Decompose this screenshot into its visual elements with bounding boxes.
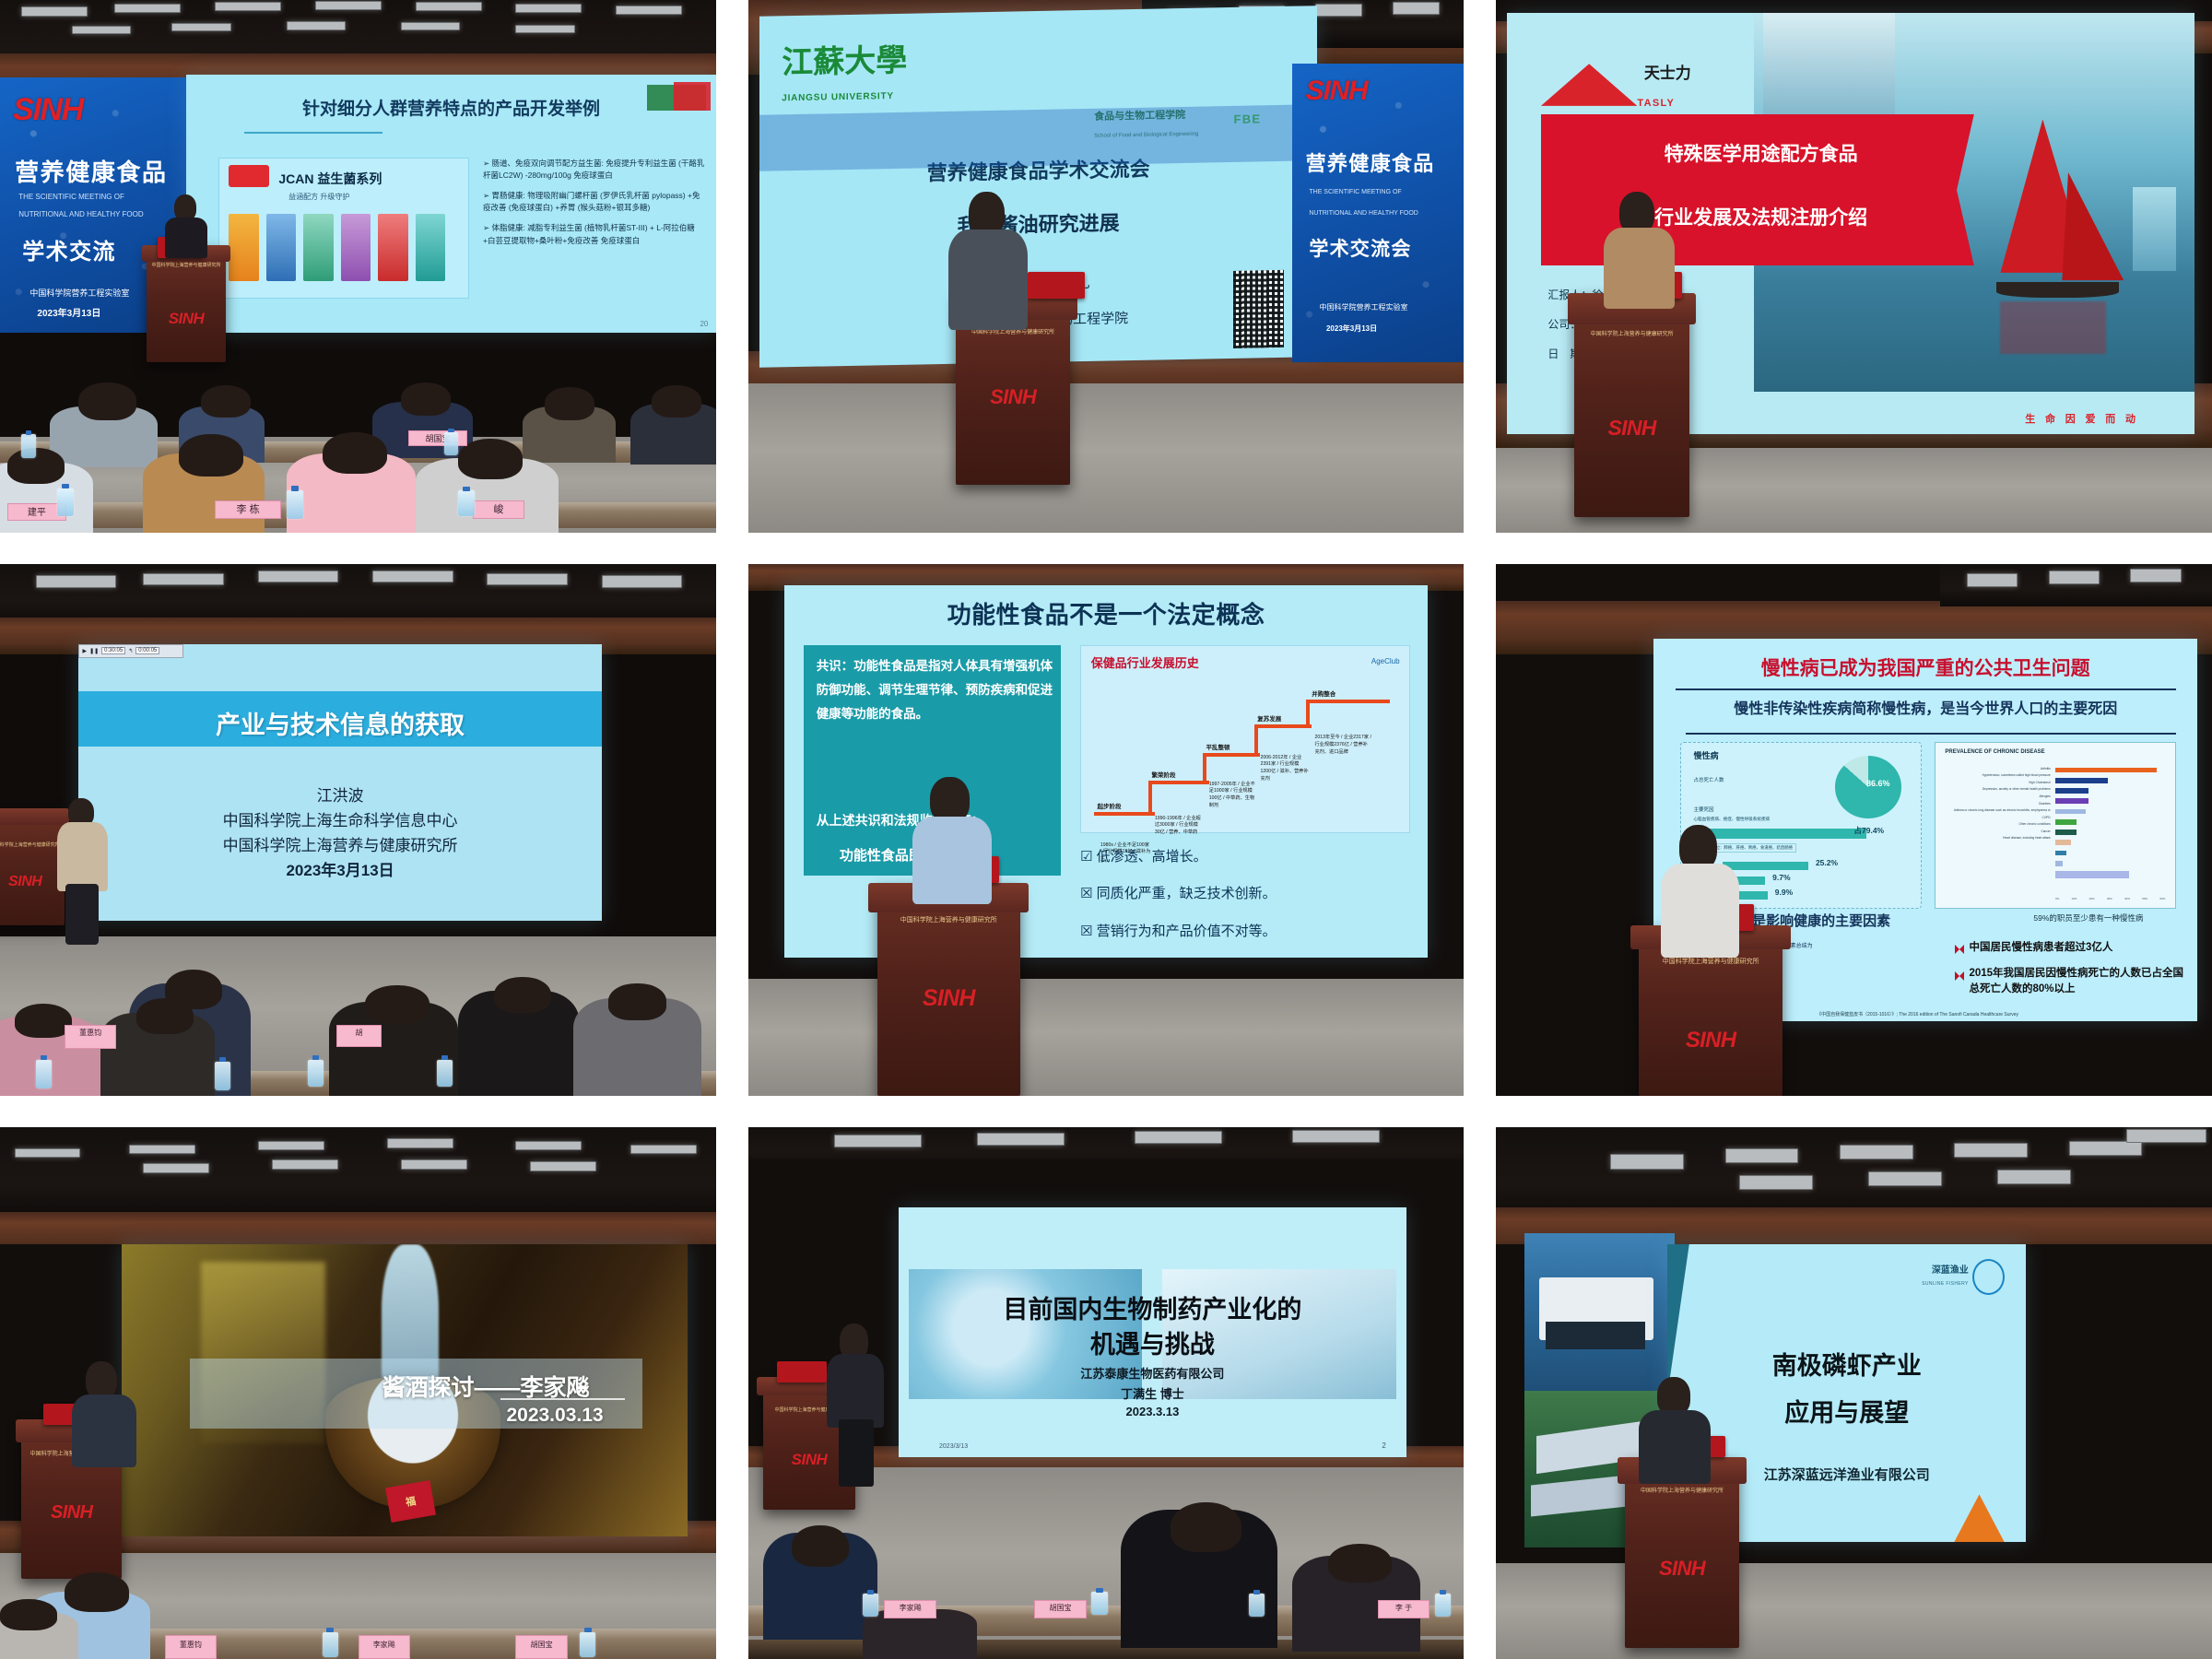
slide-date: 2023.03.13 [506,1405,603,1427]
slide-bullets: ➢ 肠道、免疫双向调节配方益生菌: 免疫提升专利益生菌 (干酪乳杆菌LC2W) … [483,158,705,248]
check-text: 低渗透、高增长。 [1097,849,1207,865]
placard: 胡国宝 [408,430,467,446]
speaker [1639,1377,1711,1483]
sinh-logo: SINH [1306,76,1368,107]
cat-8: Cancer [1945,829,2050,836]
cat-6: Asthma or chronic lung disease such as c… [1945,807,2050,821]
slide-title-line-2: 应用与展望 [1667,1393,2026,1429]
cat-5: Diabetes [1945,801,2050,808]
xtick-1: 10% [2071,897,2077,900]
check-mark: ☒ [1080,924,1092,939]
photo-cell-7[interactable]: 福 酱酒探讨——李家飚 2023.03.13 中国科学院上海营养与健康研究所 S… [0,1127,716,1659]
pie-label: 占总死亡人数 [1693,776,1724,783]
brand-logo [229,165,268,187]
slide-footer-date: 2023/3/13 [939,1443,968,1450]
chart-category-labels: Arthritis Hypertension, sometimes called… [1945,766,2050,842]
podium-sinh-logo: SINH [1639,1028,1782,1053]
cat-4: Allergies [1945,794,2050,801]
qr-code [1233,270,1283,348]
photo-cell-5[interactable]: 功能性食品不是一个法定概念 共识：功能性食品是指对人体具有增强机体防御功能、调节… [748,564,1464,1096]
grid-gutter [1464,1096,1496,1127]
xtick-6: 60% [2159,897,2165,900]
placard: 李家飚 [884,1600,935,1619]
chart-stage-4: 复苏发展 [1257,713,1281,723]
slide-title-line-2: 机遇与挑战 [899,1324,1406,1360]
banner-date: 2023年3月13日 [1326,324,1377,334]
grid-gutter [716,1096,748,1127]
company-logo-en: SUNLINE FISHERY [1922,1281,1969,1287]
slide-date: 2023.3.13 [899,1405,1406,1418]
chart-stage-2: 繁荣阶段 [1152,770,1176,779]
check-mark: ☒ [1080,886,1092,901]
card-label: 慢性病 [1693,749,1718,761]
podium-label: 中国科学院上海营养与健康研究所 [1574,329,1688,337]
slide-title-line-1: 南极磷虾产业 [1667,1346,2026,1382]
tasly-logo-mark [1541,64,1637,106]
podium-label: 中国科学院上海营养与健康研究所 [877,915,1020,924]
banner-subtitle-en-2: NUTRITIONAL AND HEALTHY FOOD [1309,210,1418,217]
xtick-5: 50% [2142,897,2147,900]
sinh-logo: SINH [13,92,83,128]
chart-x-ticks: 0% 10% 20% 30% 40% 50% 60% [2055,897,2166,900]
university-logo-cn: 江蘇大學 [782,34,907,82]
grid-gutter [1464,0,1496,533]
xtick-2: 20% [2089,897,2095,900]
podium-sinh-logo: SINH [1574,416,1688,441]
podium-sinh-logo: SINH [21,1502,122,1524]
checklist-item-3: ☒ 营销行为和产品价值不对等。 [1080,921,1277,940]
slide-title: 产业与技术信息的获取 [78,705,601,741]
speaker [1661,825,1739,958]
podium-sinh-logo: SINH [1625,1557,1739,1581]
speaker [1604,192,1676,309]
cat-1: Hypertension, sometimes called high bloo… [1945,772,2050,780]
industry-history-chart: 保健品行业发展历史 AgeClub 起步阶段 繁荣阶段 平乱整顿 复苏发展 [1080,645,1410,833]
consensus-text: 共识：功能性食品是指对人体具有增强机体防御功能、调节生理节律、预防疾病和促进健康… [817,654,1053,727]
slide-title: 功能性食品不是一个法定概念 [784,596,1428,630]
company-logo-en: TASLY [1637,98,1675,109]
slide-page-number: 2 [1382,1441,1385,1450]
chart-title: PREVALENCE OF CHRONIC DISEASE [1945,749,2044,755]
slide-line-2: 中国科学院上海生命科学信息中心 [78,807,601,830]
grid-gutter [748,533,1464,564]
placard: 峻 [473,500,524,519]
podium-sinh-logo: SINH [0,874,65,890]
ppt-reset-icon[interactable]: ↰ [128,648,133,654]
speaker [165,194,208,258]
placard: 胡国宝 [515,1635,567,1659]
check-mark: ☑ [1080,849,1092,865]
photo-cell-1[interactable]: SINH 营养健康食品 THE SCIENTIFIC MEETING OF NU… [0,0,716,533]
grid-gutter [1464,564,1496,1096]
slide-source: 《中国自我保健蓝皮书（2015-1016）》; The 2016 edition… [1817,1011,2018,1018]
photo-cell-4[interactable]: ▶ ❚❚ 0:30:05 ↰ 0:00:05 产业与技术信息的获取 江洪波 中国… [0,564,716,1096]
grid-gutter [0,533,716,564]
company-logo-cn: 天士力 [1644,60,1691,83]
grid-gutter [1496,533,2212,564]
slide-line-1: 江洪波 [78,782,601,806]
banner-subtitle-en-2: NUTRITIONAL AND HEALTHY FOOD [18,210,143,218]
check-text: 同质化严重，缺乏技术创新。 [1097,886,1277,901]
cat-9: Heart disease, including heart attack [1945,835,2050,842]
cat-3: Depression, anxiety or other mental heal… [1945,786,2050,794]
bright-dairy-logo [674,82,711,111]
cat-7: Other chronic conditions [1945,821,2050,829]
slide-title-line-1: 特殊医学用途配方食品 [1561,139,1960,167]
university-logo-en: JIANGSU UNIVERSITY [782,90,894,102]
company-slogan: 生 命 因 爱 而 动 [2025,411,2139,426]
grid-gutter [1464,533,1496,564]
placard: 李 栋 [215,500,281,519]
grid-gutter [716,1127,748,1659]
ppt-elapsed-time: 0:30:05 [101,647,125,654]
sunline-logo-mark [1972,1259,2005,1295]
bullet-1: ➢ 肠道、免疫双向调节配方益生菌: 免疫提升专利益生菌 (干酪乳杆菌LC2W) … [483,158,705,182]
banner-org: 中国科学院营养工程实验室 [1320,302,1408,312]
placard: 李家飚 [359,1635,410,1659]
podium-sinh-logo: SINH [956,385,1070,409]
product-headline: JCAN 益生菌系列 [278,170,382,188]
banner-title-cn-2: 学术交流会 [1309,234,1411,262]
placard: 董惠钧 [165,1635,217,1659]
ppt-pause-icon[interactable]: ❚❚ [89,648,99,654]
slide-bullet-1: 中国居民慢性病患者超过3亿人 [1969,939,2175,954]
row-value-3: 9.9% [1775,888,1793,897]
orange-triangle [1954,1494,2004,1542]
xtick-3: 30% [2107,897,2112,900]
xtick-0: 0% [2055,897,2059,900]
banner-title-cn: 营养健康食品 [1306,147,1435,177]
consensus-lead: 共识： [817,659,854,673]
photo-cell-3[interactable]: 特殊医学用途配方食品 行业发展及法规注册介绍 天士力 TASLY 汇报人：徐 公… [1496,0,2212,533]
product-panel: JCAN 益生菌系列 益涵配方 升级守护 [218,158,469,299]
podium: 中国科学院上海营养与健康研究所 SINH [1625,1457,1739,1649]
banner-title-cn: 营养健康食品 [15,154,167,188]
chart-note-3: 1997-2005年 / 企业不足1000家 / 行业规模100亿 / 中草药、… [1209,782,1257,810]
speaker [948,192,1027,330]
presentation-slide: 福 酱酒探讨——李家飚 2023.03.13 [122,1244,688,1536]
podium: 中国科学院上海营养与健康研究所 SINH [877,883,1020,1096]
slide-line-3: 中国科学院上海营养与健康研究所 [78,832,601,855]
placard: 胡 [336,1025,382,1047]
slide-title: 针对细分人群营养特点的产品开发举例 [186,95,716,120]
grid-gutter [716,533,748,564]
event-banner: SINH 营养健康食品 THE SCIENTIFIC MEETING OF NU… [1292,64,1464,362]
chart-bars [2055,768,2166,883]
checklist-item-1: ☑ 低渗透、高增长。 [1080,846,1207,865]
slide-company: 江苏泰康生物医药有限公司 [899,1364,1406,1382]
podium-label: 中国科学院上海营养与健康研究所 [1625,1486,1739,1494]
projection-screen: ▶ ❚❚ 0:30:05 ↰ 0:00:05 产业与技术信息的获取 江洪波 中国… [78,644,601,921]
photo-cell-8[interactable]: 目前国内生物制药产业化的 机遇与挑战 江苏泰康生物医药有限公司 丁满生 博士 2… [748,1127,1464,1659]
slide-subtitle: 慢性非传染性疾病简称慢性病，是当今世界人口的主要死因 [1653,696,2198,718]
chart-title: 保健品行业发展历史 [1091,653,1199,671]
photo-grid: SINH 营养健康食品 THE SCIENTIFIC MEETING OF NU… [0,0,2212,1659]
talk-title: 我国酱油研究进展 [759,202,1317,242]
placard: 李 于 [1378,1600,1430,1619]
chart-note-5: 2013年至今 / 企业2317家 / 行业规模2376亿 / 营养补充剂、进口… [1314,735,1371,756]
slide-presenter: 丁满生 博士 [899,1384,1406,1402]
cause-value: 占79.4% [1854,825,1885,836]
chart-stage-5: 并购整合 [1312,688,1335,698]
podium-label: 中国科学院上海营养与健康研究所 [147,262,225,268]
grid-gutter [716,564,748,1096]
slide-title-line-1: 目前国内生物制药产业化的 [899,1289,1406,1325]
company-logo-cn: 深蓝渔业 [1932,1262,1969,1276]
checklist-item-2: ☒ 同质化严重，缺乏技术创新。 [1080,883,1277,902]
grid-gutter [0,1096,716,1127]
bullet-3: ➢ 体脂健康: 减脂专利益生菌 (植物乳杆菌ST-III) + L-阿拉伯糖+白… [483,222,705,247]
speaker [912,777,991,904]
row-value-2: 9.7% [1772,873,1790,882]
presentation-slide: 针对细分人群营养特点的产品开发举例 JCAN 益生菌系列 益涵配方 升级守护 ➢… [186,75,716,333]
photo-cell-9[interactable]: 深蓝渔业 SUNLINE FISHERY 南极磷虾产业 应用与展望 江苏深蓝远洋… [1496,1127,2212,1659]
ppt-slide-time: 0:00:05 [135,647,159,654]
grid-gutter [1496,1096,2212,1127]
row-value-1: 25.2% [1816,858,1838,867]
cat-0: Arthritis [1945,766,2050,773]
podium-label: 中国科学院上海营养与健康研究所 [1639,957,1782,966]
ppt-play-icon[interactable]: ▶ [82,648,87,654]
cause-note: 心脑血管疾病、癌症、慢性呼吸系统疾病 [1693,817,1770,822]
product-subhead: 益涵配方 升级守护 [288,192,349,202]
chart-note-4: 2006-2012年 / 企业2391家 / 行业规模1200亿 / 滋补、营养… [1261,755,1309,783]
photo-cell-2[interactable]: 江蘇大學 JIANGSU UNIVERSITY 食品与生物工程学院 School… [748,0,1464,533]
podium: 中国科学院上海营养与健康研究所 SINH [0,808,65,925]
pie-value: 86.6% [1866,779,1890,788]
podium-sinh-logo: SINH [877,985,1020,1012]
check-text: 营销行为和产品价值不对等。 [1097,924,1277,939]
banner-subtitle-en-1: THE SCIENTIFIC MEETING OF [18,193,124,201]
podium-label: 中国科学院上海营养与健康研究所 [0,841,65,848]
slide-title: 慢性病已成为我国严重的公共卫生问题 [1653,653,2198,681]
speaker [827,1324,884,1483]
xtick-4: 40% [2124,897,2130,900]
chart-stage-1: 起步阶段 [1098,801,1122,810]
grid-gutter [748,1096,1464,1127]
chart-caption: 59%的职员至少患有一种慢性病 [2033,912,2143,924]
chart-note-2: 1990-1996年 / 企业超过3000家 / 行业规模30亿 / 营养、中草… [1155,816,1203,837]
grid-gutter [1464,1127,1496,1659]
podium: 中国科学院上海营养与健康研究所 SINH [1574,293,1688,517]
presentation-slide: 目前国内生物制药产业化的 机遇与挑战 江苏泰康生物医药有限公司 丁满生 博士 2… [899,1207,1406,1457]
grid-gutter [716,0,748,533]
cause-label: 主要死因 [1693,806,1713,813]
chart-source: AgeClub [1371,657,1400,665]
banner-subtitle-en-1: THE SCIENTIFIC MEETING OF [1309,189,1401,195]
speaker [72,1361,136,1467]
photo-cell-6[interactable]: 慢性病已成为我国严重的公共卫生问题 慢性非传染性疾病简称慢性病，是当今世界人口的… [1496,564,2212,1096]
placard: 胡国宝 [1034,1600,1086,1619]
banner-org: 中国科学院营养工程实验室 [29,287,129,299]
ppt-presenter-toolbar[interactable]: ▶ ❚❚ 0:30:05 ↰ 0:00:05 [78,644,182,658]
placard: 董惠钧 [65,1025,116,1049]
chart-stage-3: 平乱整顿 [1206,742,1230,751]
slide-line-4: 2023年3月13日 [78,857,601,880]
bullet-2: ➢ 胃肠健康: 物理吸附幽门螺杆菌 (罗伊氏乳杆菌 pylopass) +免疫改… [483,190,705,215]
slide-bullet-2: 2015年我国居民因慢性病死亡的人数已占全国总死亡人数的80%以上 [1969,966,2186,996]
prevalence-chart: PREVALENCE OF CHRONIC DISEASE Arthritis … [1935,742,2176,909]
banner-title-cn-2: 学术交流 [22,233,116,265]
cat-2: High Cholesterol [1945,780,2050,787]
